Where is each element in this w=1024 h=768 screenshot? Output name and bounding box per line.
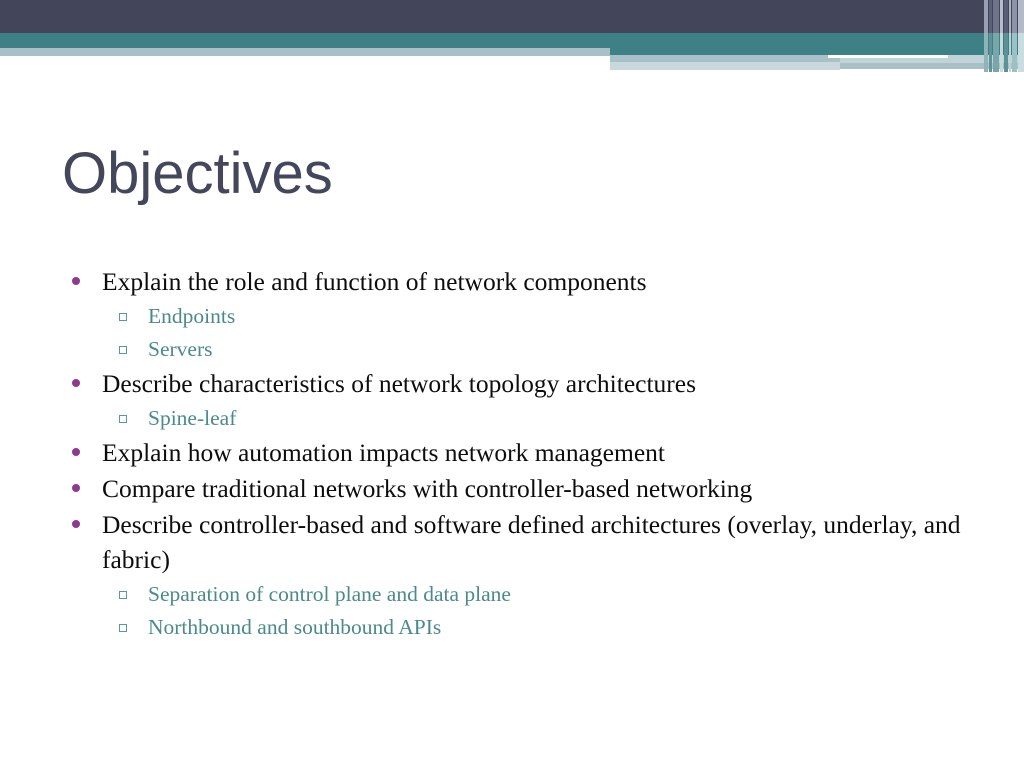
bullet-dot-icon: [72, 379, 80, 387]
bullet-text: Endpoints: [148, 304, 235, 328]
banner-stripe-upper: [1018, 0, 1024, 33]
bullet-item-level2: Northbound and southbound APIs: [64, 611, 964, 643]
banner-stripe-upper: [984, 0, 988, 33]
bullet-item-level1: Describe controller-based and software d…: [64, 507, 964, 577]
bullet-item-level1: Compare traditional networks with contro…: [64, 471, 964, 506]
objectives-list: Explain the role and function of network…: [64, 264, 964, 644]
bullet-text: Northbound and southbound APIs: [148, 615, 441, 639]
bullet-square-icon: [119, 313, 127, 321]
slide: Objectives Explain the role and function…: [0, 0, 1024, 768]
banner-pale-band-left: [0, 48, 610, 56]
banner-stripe-upper: [1004, 0, 1008, 33]
banner-stripe-lower: [1004, 33, 1008, 72]
bullet-item-level1: Describe characteristics of network topo…: [64, 366, 964, 401]
bullet-text: Servers: [148, 337, 212, 361]
banner-stripe-upper: [1009, 0, 1011, 33]
banner-stripe-upper: [1000, 0, 1003, 33]
bullet-text: Describe controller-based and software d…: [102, 510, 961, 574]
bullet-text: Explain the role and function of network…: [102, 267, 647, 296]
banner-stripe-upper: [993, 0, 999, 33]
bullet-square-icon: [119, 591, 127, 599]
banner-stripe-upper: [989, 0, 992, 33]
bullet-text: Describe characteristics of network topo…: [102, 369, 696, 398]
bullet-text: Separation of control plane and data pla…: [148, 582, 511, 606]
banner-stripe-upper: [1012, 0, 1017, 33]
banner-white-notch: [0, 56, 610, 78]
banner-stripe-lower: [1009, 33, 1011, 72]
bullet-item-level1: Explain the role and function of network…: [64, 264, 964, 299]
banner-stripe-lower: [993, 33, 999, 72]
bullet-text: Compare traditional networks with contro…: [102, 474, 752, 503]
banner-stripe-lower: [1012, 33, 1017, 72]
bullet-item-level1: Explain how automation impacts network m…: [64, 435, 964, 470]
banner-dark-band: [0, 0, 1024, 33]
bullet-item-level2: Servers: [64, 333, 964, 365]
bullet-dot-icon: [72, 484, 80, 492]
bullet-dot-icon: [72, 448, 80, 456]
header-banner: [0, 0, 1024, 78]
banner-white-hairline: [828, 55, 948, 58]
bullet-square-icon: [119, 624, 127, 632]
bullet-text: Explain how automation impacts network m…: [102, 438, 665, 467]
bullet-item-level2: Spine-leaf: [64, 402, 964, 434]
banner-pale-band-lower: [610, 62, 840, 70]
page-title: Objectives: [62, 142, 333, 206]
banner-stripe-lower: [984, 33, 988, 72]
banner-stripe-lower: [1000, 33, 1003, 72]
bullet-dot-icon: [72, 277, 80, 285]
bullet-dot-icon: [72, 520, 80, 528]
bullet-item-level2: Separation of control plane and data pla…: [64, 578, 964, 610]
banner-vertical-stripes: [984, 0, 1024, 72]
banner-stripe-lower: [989, 33, 992, 72]
banner-teal-band-right: [610, 33, 1024, 55]
banner-stripe-lower: [1018, 33, 1024, 72]
bullet-square-icon: [119, 415, 127, 423]
bullet-text: Spine-leaf: [148, 406, 236, 430]
banner-teal-band-left: [0, 33, 610, 48]
bullet-item-level2: Endpoints: [64, 300, 964, 332]
bullet-square-icon: [119, 346, 127, 354]
